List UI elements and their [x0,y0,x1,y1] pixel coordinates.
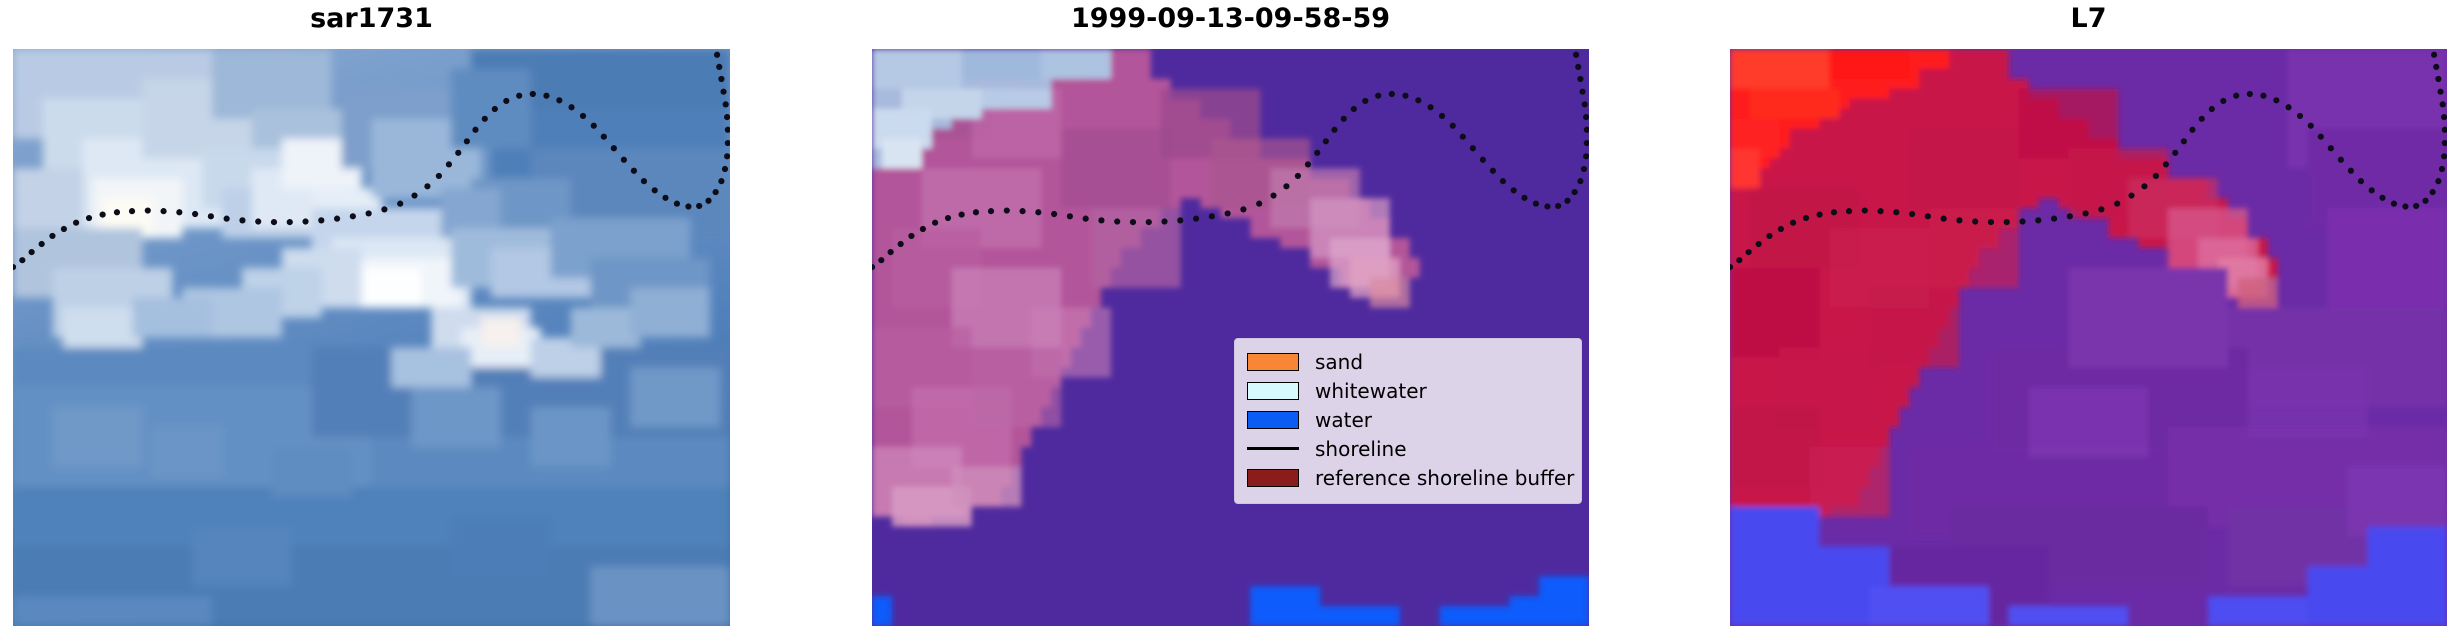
legend-box: sand whitewater water shoreline referenc… [1234,338,1582,504]
shoreline-overlay-l7 [1730,49,2447,626]
figure-canvas: sar1731 [0,0,2460,632]
legend-item-reference-shoreline-buffer: reference shoreline buffer [1246,463,1571,492]
panel-title-l7: L7 [1730,3,2447,35]
axes-sar1731 [13,49,730,626]
panel-1999-09-13-09-58-59: 1999-09-13-09-58-59 [872,0,1589,632]
panel-sar1731: sar1731 [13,0,730,632]
legend-item-water: water [1246,405,1571,434]
axes-l7 [1730,49,2447,626]
legend-item-whitewater: whitewater [1246,376,1571,405]
legend-label-reference-shoreline-buffer: reference shoreline buffer [1315,467,1574,489]
legend-swatch-shoreline [1247,440,1299,458]
legend-swatch-sand [1247,353,1299,371]
legend-item-sand: sand [1246,347,1571,376]
legend-label-whitewater: whitewater [1315,380,1427,402]
legend-label-sand: sand [1315,351,1363,373]
legend-swatch-water [1247,411,1299,429]
legend-swatch-whitewater [1247,382,1299,400]
legend-label-shoreline: shoreline [1315,438,1407,460]
shoreline-overlay-sar1731 [13,49,730,626]
legend-swatch-reference-shoreline-buffer [1247,469,1299,487]
panel-l7: L7 [1730,0,2447,632]
legend-item-shoreline: shoreline [1246,434,1571,463]
legend-label-water: water [1315,409,1372,431]
panel-title-date: 1999-09-13-09-58-59 [872,3,1589,35]
panel-title-sar1731: sar1731 [13,3,730,35]
